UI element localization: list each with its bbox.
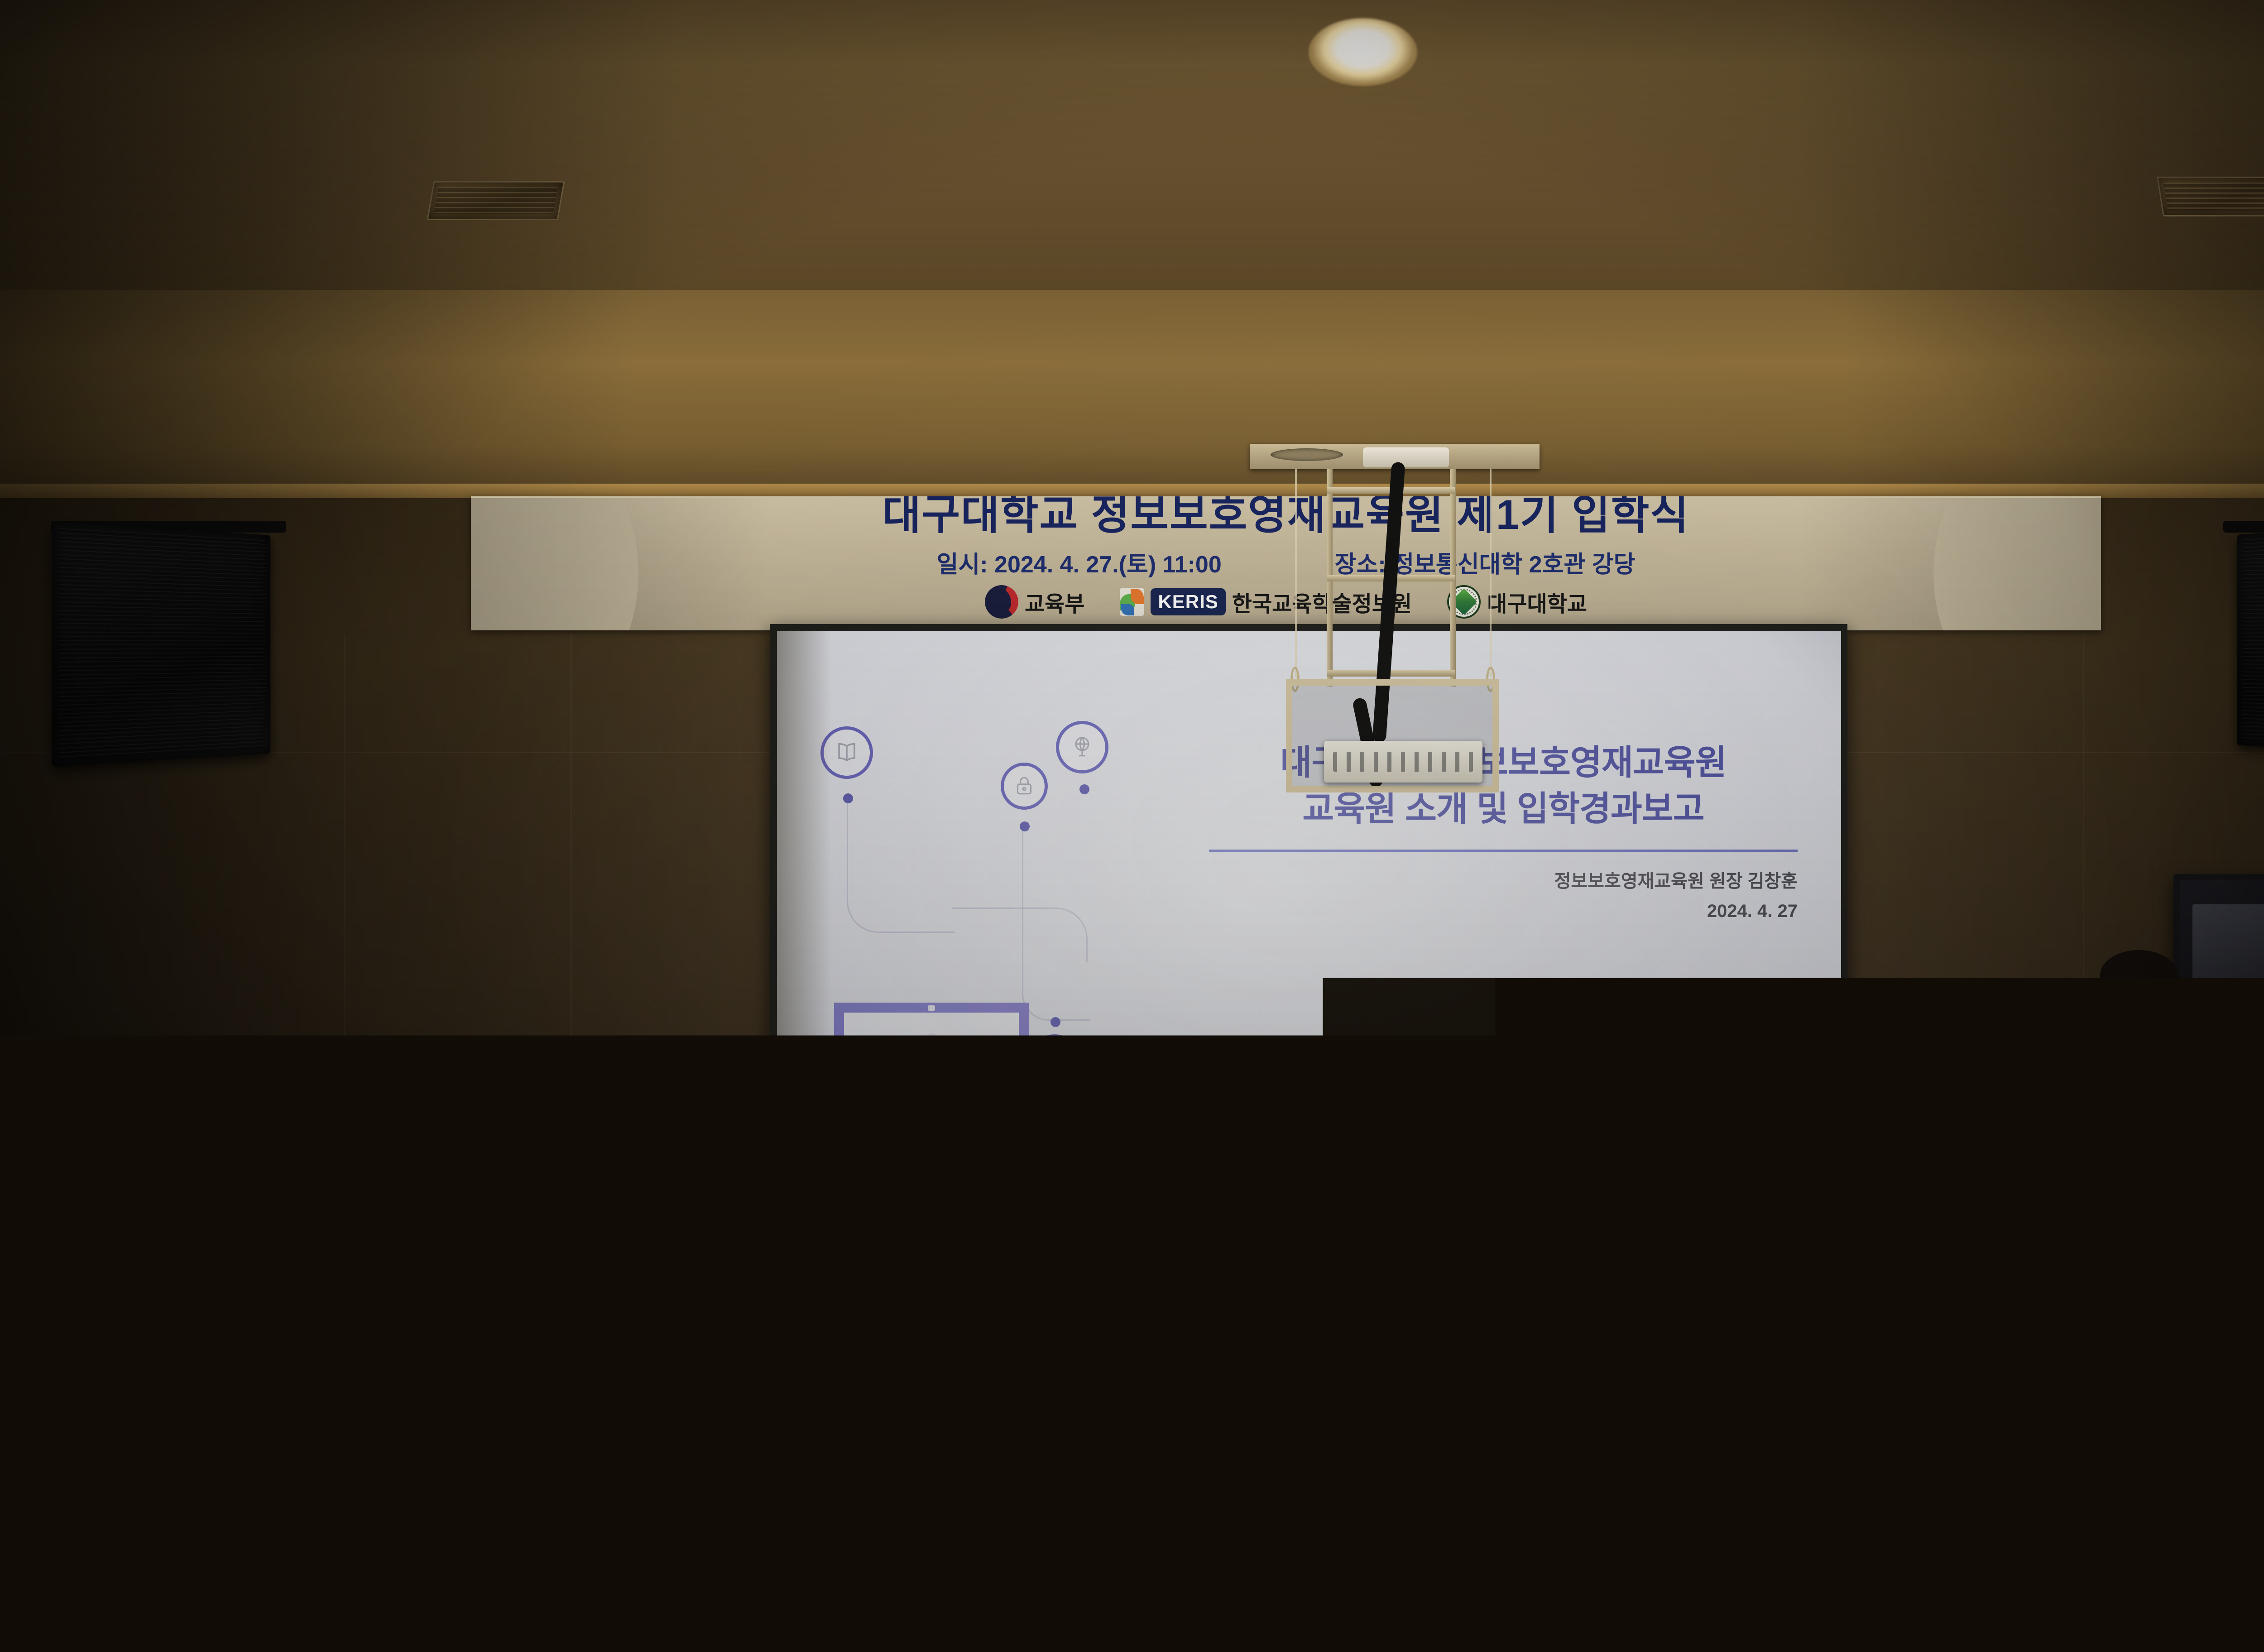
- moe-logo: 교육부: [985, 585, 1084, 619]
- soffit-shadow-left: [0, 290, 634, 499]
- ceiling-vent-3: [2157, 177, 2264, 216]
- pointing-hand-icon: [898, 1152, 953, 1247]
- keris-badge-label: KERIS: [1151, 588, 1225, 615]
- globe-icon: [1056, 721, 1108, 773]
- monitor-camera-icon: [928, 1005, 935, 1011]
- glasses-icon: [2106, 990, 2173, 1005]
- audience-member: [788, 1436, 901, 1590]
- right-speaker-bracket: [2223, 521, 2264, 533]
- hand-cuff: [904, 1241, 947, 1260]
- ceiling-downlight-1: [1309, 18, 1417, 86]
- lock-icon: [1001, 763, 1048, 810]
- banner-datetime: 일시: 2024. 4. 27.(토) 11:00: [937, 545, 1222, 579]
- soffit-shadow-right: [1844, 290, 2264, 499]
- rig-crossbar-low: [1327, 670, 1455, 677]
- aisle-rail-right: [1448, 1436, 1469, 1652]
- rig-safety-wire-left: [1295, 469, 1297, 677]
- presenter-left-hand: [2028, 1027, 2075, 1072]
- audience-member: [2119, 1295, 2232, 1445]
- audience-member: [1929, 1513, 2056, 1652]
- moe-logo-label: 교육부: [1025, 586, 1084, 618]
- rig-junction-box: [1363, 447, 1449, 467]
- connector-line-1: [847, 802, 955, 933]
- audience-member: [136, 1499, 267, 1652]
- slide-date: 2024. 4. 27: [1209, 898, 1798, 925]
- slide-presenter: 정보보호영재교육원 원장 김창훈: [1209, 868, 1798, 895]
- screen-edge-shadow: [777, 631, 831, 1260]
- connector-line-3: [1022, 831, 1090, 1021]
- keris-leaf-icon: [1120, 588, 1144, 616]
- ceiling-shadow-left: [0, 0, 679, 290]
- projector-unit: [1324, 741, 1482, 783]
- node-dot-lock: [1020, 821, 1030, 831]
- audience-seating: [0, 1300, 2264, 1652]
- monitor-shield-graphic: [834, 1003, 1029, 1138]
- node-dot-globe: [1079, 784, 1089, 794]
- ceiling-vent-1: [427, 181, 565, 220]
- left-wall-speaker: [52, 522, 270, 767]
- presenter-right-hand: [2117, 1039, 2151, 1074]
- slide-graphic: [816, 717, 1151, 1215]
- node-dot-briefcase: [1050, 1017, 1060, 1027]
- auditorium-photo: 대구대학교 정보보호영재교육원 제1기 입학식 일시: 2024. 4. 27.…: [0, 0, 2264, 1652]
- briefcase-icon: [1028, 1034, 1081, 1088]
- blue-cap: [1639, 1310, 1728, 1368]
- ceiling-shadow-right: [1799, 0, 2264, 290]
- projector-rig: [1277, 444, 1512, 802]
- shield-icon: [897, 1032, 965, 1109]
- lectern-emblem-icon: [30, 1191, 83, 1244]
- seat-back-card: [844, 1340, 908, 1378]
- rig-plate-hole: [1271, 448, 1343, 461]
- right-wall-speaker: [2237, 523, 2264, 757]
- audience-member: [285, 1440, 421, 1621]
- audience-member: [1585, 1494, 1712, 1652]
- audience-member: [181, 1359, 285, 1494]
- audience-member: [525, 1291, 643, 1440]
- monitor-base: [817, 1137, 1070, 1152]
- slide-divider: [1209, 850, 1798, 852]
- rig-safety-wire-right: [1490, 469, 1492, 677]
- seat-back-card: [1502, 1341, 1566, 1379]
- taegeuk-icon: [985, 585, 1018, 619]
- projector-cage: [1286, 679, 1499, 792]
- mouse-icon: [1056, 1177, 1087, 1228]
